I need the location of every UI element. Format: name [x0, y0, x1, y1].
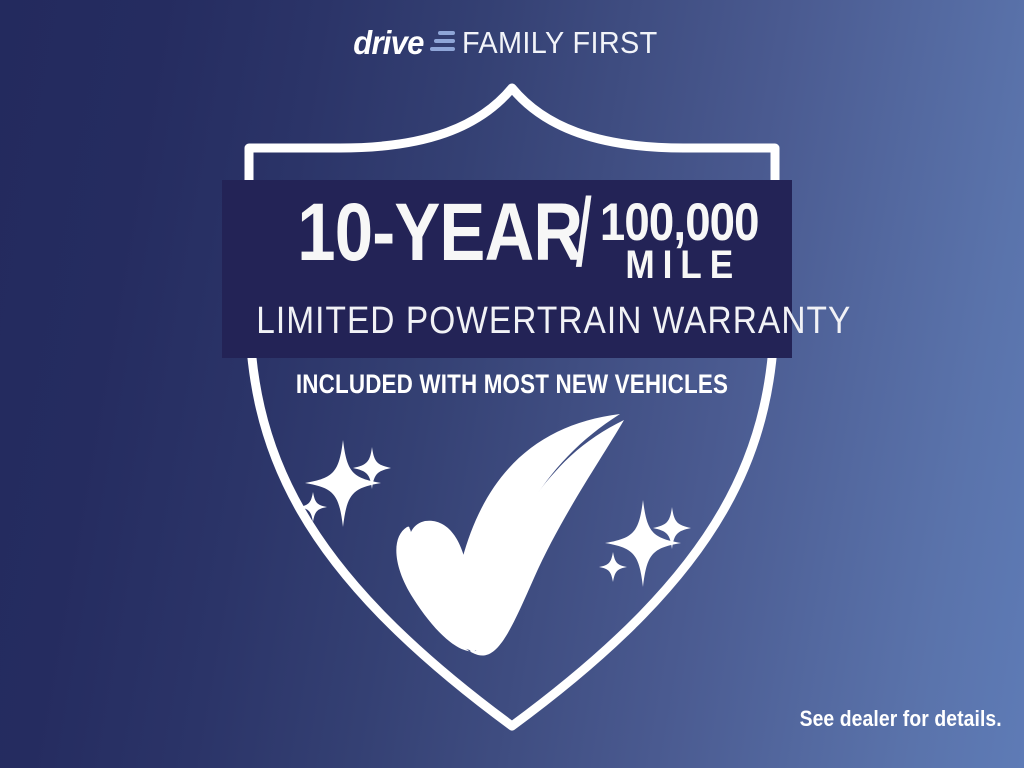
offer-banner: 10-YEAR / 100,000 MILE LIMITED POWERTRAI… — [222, 180, 792, 358]
brand-wordmark: drive — [354, 26, 424, 59]
stacked-bars-icon-line-3 — [430, 47, 455, 52]
stacked-bars-icon-line-1 — [438, 31, 455, 36]
included-note: INCLUDED WITH MOST NEW VEHICLES — [87, 371, 937, 398]
checkmark-icon — [402, 422, 621, 652]
brand-tagline: FAMILY FIRST — [462, 27, 658, 58]
stacked-bars-icon-line-2 — [434, 39, 455, 44]
stacked-bars-icon — [430, 31, 455, 54]
headline-mileage-unit: MILE — [617, 245, 741, 285]
headline-mileage-group: 100,000 MILE — [587, 194, 772, 285]
offer-subline: LIMITED POWERTRAIN WARRANTY — [256, 302, 758, 340]
headline-term: 10-YEAR — [297, 194, 582, 273]
sparkle-cluster-left — [299, 440, 391, 527]
offer-headline: 10-YEAR / 100,000 MILE — [222, 194, 792, 294]
sparkle-cluster-right — [599, 500, 691, 587]
headline-mileage: 100,000 — [600, 199, 759, 248]
warranty-promo-banner: drive FAMILY FIRST 10-YEAR / 100,000 MIL… — [0, 0, 1024, 768]
brand-header: drive FAMILY FIRST — [0, 20, 1024, 64]
disclaimer-text: See dealer for details. — [800, 706, 1002, 732]
